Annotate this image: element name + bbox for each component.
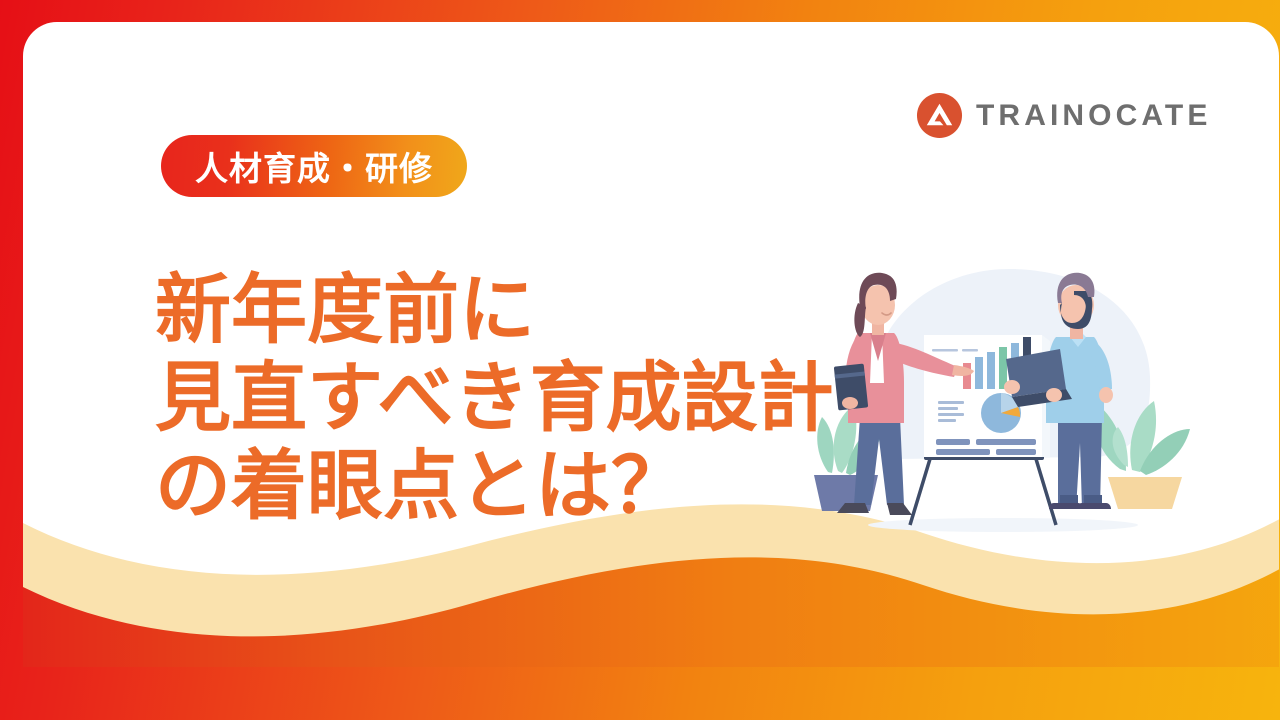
category-badge-label: 人材育成・研修 (195, 142, 433, 190)
trainocate-logo[interactable]: TRAINOCATE (916, 92, 1211, 139)
banner-stage: TRAINOCATE 人材育成・研修 新年度前に 見直すべき育成設計 の着眼点と… (0, 0, 1280, 720)
business-presentation-illustration (798, 237, 1198, 557)
plant-right (1095, 401, 1190, 509)
headline-line-3: の着眼点とは？ (155, 442, 834, 530)
trainocate-circle-mountain-mark (916, 92, 963, 139)
white-card: TRAINOCATE 人材育成・研修 新年度前に 見直すべき育成設計 の着眼点と… (23, 22, 1279, 667)
headline-line-2: 見直すべき育成設計 (155, 354, 834, 442)
logo-wordmark: TRAINOCATE (976, 99, 1211, 133)
headline-line-1: 新年度前に (155, 266, 834, 354)
category-badge[interactable]: 人材育成・研修 (161, 135, 467, 197)
headline: 新年度前に 見直すべき育成設計 の着眼点とは？ (155, 266, 834, 530)
